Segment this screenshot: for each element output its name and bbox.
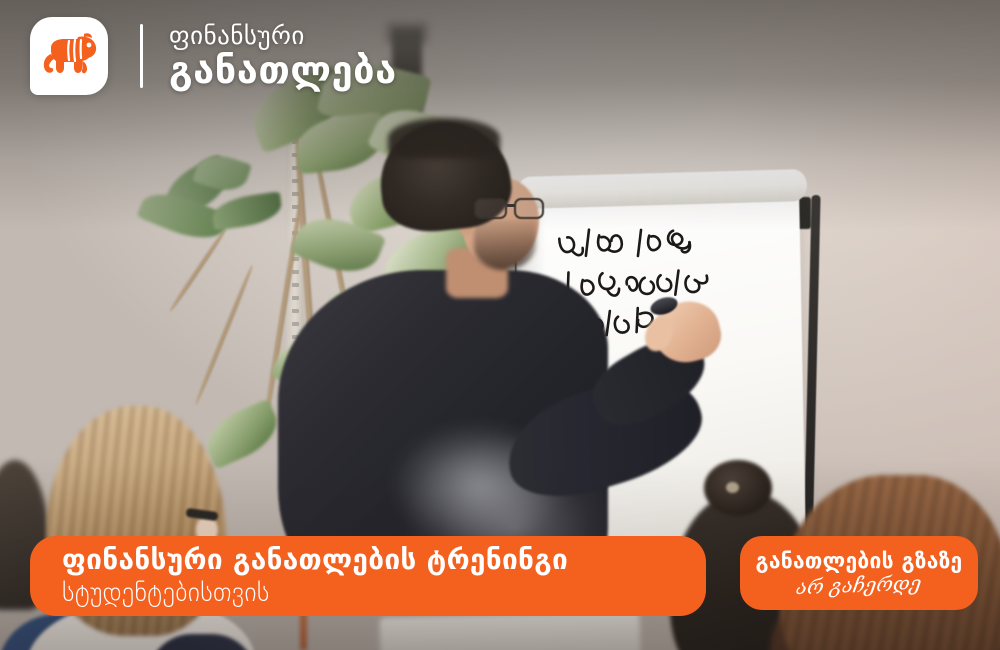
brand-line-1: ფინანსური [169, 23, 397, 48]
brand-wordmark: ფინანსური განათლება [169, 23, 397, 89]
brand-line-2: განათლება [169, 51, 397, 89]
header-bar: ფინანსური განათლება [0, 0, 1000, 112]
badge-title: განათლების გზაზე [755, 550, 962, 572]
desk-surface [379, 611, 640, 650]
poster-root: ფინანსური განათლება ფინანსური განათლების… [0, 0, 1000, 650]
badge-script-line: არ გაჩერდე [796, 572, 923, 597]
banner-title: ფინანსური განათლების ტრენინგი [62, 545, 706, 575]
presenter-beard [474, 220, 536, 270]
presenter-glasses [474, 198, 548, 220]
header-divider [140, 24, 143, 88]
presenter-hair-tuft [388, 118, 500, 158]
lion-logo-icon[interactable] [30, 17, 108, 95]
banner-subtitle: სტუდენტებისთვის [62, 579, 706, 608]
slogan-badge: განათლების გზაზე არ გაჩერდე [740, 536, 978, 610]
main-banner: ფინანსური განათლების ტრენინგი სტუდენტები… [30, 536, 706, 616]
